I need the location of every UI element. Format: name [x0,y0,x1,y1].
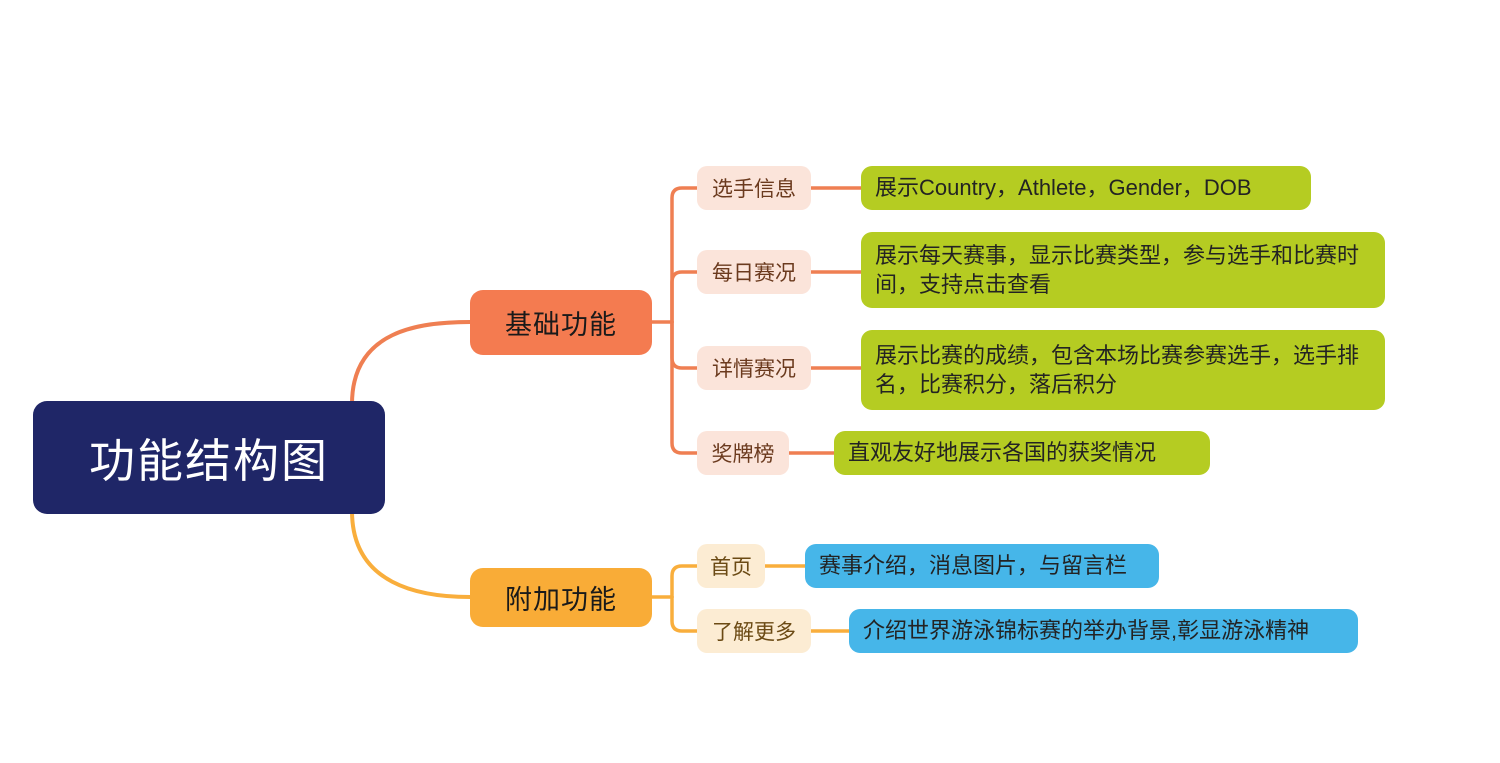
branch-node-basic-label: 基础功能 [505,303,617,342]
sub-node-daily-label: 每日赛况 [712,257,796,287]
connector-basic-to-athlete [672,188,697,322]
connector-basic-to-medal [672,322,697,453]
connector-extra-to-home [672,566,697,597]
leaf-node-daily-description[interactable]: 展示每天赛事，显示比赛类型，参与选手和比赛时间，支持点击查看 [861,232,1385,308]
leaf-node-home-description[interactable]: 赛事介绍，消息图片，与留言栏 [805,544,1159,588]
leaf-node-learnmore-description[interactable]: 介绍世界游泳锦标赛的举办背景,彰显游泳精神 [849,609,1358,653]
root-node-label: 功能结构图 [89,425,329,491]
sub-node-medal[interactable]: 奖牌榜 [697,431,789,475]
leaf-node-detail-description-text: 展示比赛的成绩，包含本场比赛参赛选手，选手排名，比赛积分，落后积分 [875,341,1371,400]
sub-node-daily[interactable]: 每日赛况 [697,250,811,294]
leaf-node-learnmore-description-text: 介绍世界游泳锦标赛的举办背景,彰显游泳精神 [863,616,1309,645]
connector-root-to-extra [352,511,470,597]
sub-node-learnmore-label: 了解更多 [712,616,796,646]
branch-node-extra[interactable]: 附加功能 [470,568,652,627]
sub-node-detail[interactable]: 详情赛况 [697,346,811,390]
branch-node-basic[interactable]: 基础功能 [470,290,652,355]
sub-node-learnmore[interactable]: 了解更多 [697,609,811,653]
connector-basic-to-daily [672,272,697,322]
sub-node-athlete[interactable]: 选手信息 [697,166,811,210]
leaf-node-athlete-description-text: 展示Country，Athlete，Gender，DOB [875,173,1252,202]
leaf-node-medal-description[interactable]: 直观友好地展示各国的获奖情况 [834,431,1210,475]
connector-root-to-basic [352,322,470,404]
leaf-node-medal-description-text: 直观友好地展示各国的获奖情况 [848,438,1156,467]
sub-node-detail-label: 详情赛况 [712,353,796,383]
branch-node-extra-label: 附加功能 [505,578,617,617]
connector-extra-to-learnmore [672,597,697,631]
leaf-node-detail-description[interactable]: 展示比赛的成绩，包含本场比赛参赛选手，选手排名，比赛积分，落后积分 [861,330,1385,410]
leaf-node-daily-description-text: 展示每天赛事，显示比赛类型，参与选手和比赛时间，支持点击查看 [875,241,1371,300]
leaf-node-home-description-text: 赛事介绍，消息图片，与留言栏 [819,551,1127,580]
sub-node-home[interactable]: 首页 [697,544,765,588]
sub-node-medal-label: 奖牌榜 [712,438,775,468]
connector-basic-to-detail [672,322,697,368]
root-node[interactable]: 功能结构图 [33,401,385,514]
leaf-node-athlete-description[interactable]: 展示Country，Athlete，Gender，DOB [861,166,1311,210]
sub-node-home-label: 首页 [710,551,752,581]
mindmap-canvas: 功能结构图 基础功能 附加功能 选手信息 每日赛况 详情赛况 奖牌榜 首页 了解… [0,0,1500,763]
sub-node-athlete-label: 选手信息 [712,173,796,203]
